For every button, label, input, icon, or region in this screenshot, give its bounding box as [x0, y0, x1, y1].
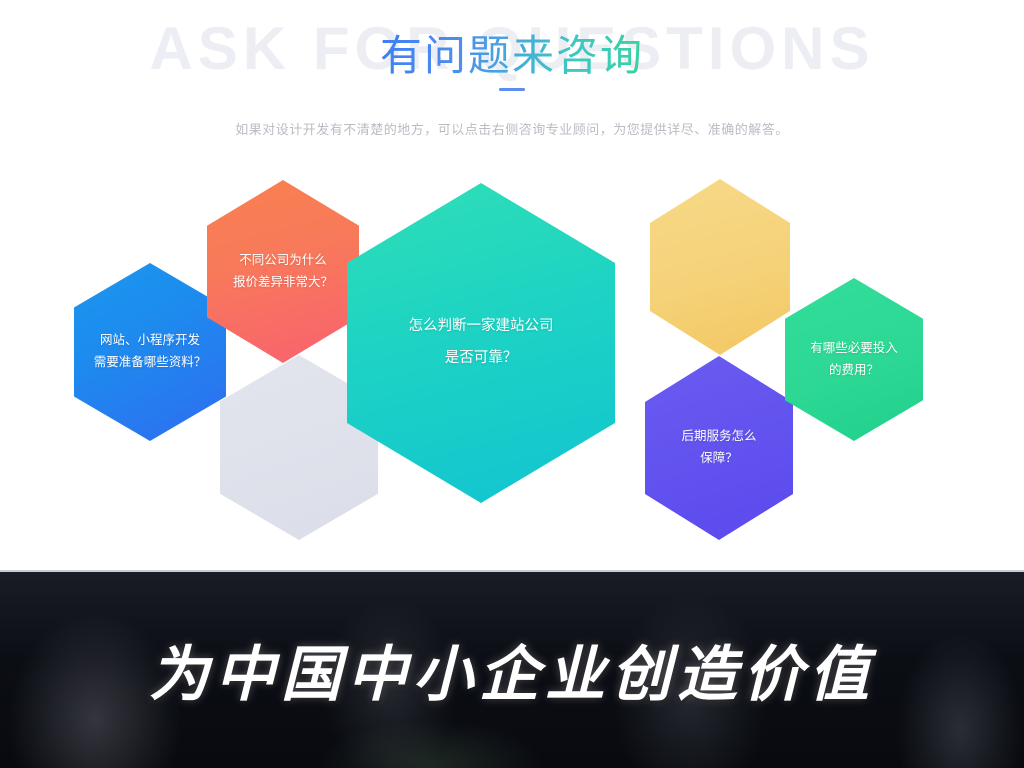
faq-hexagon-label: 不同公司为什么 报价差异非常大？ [225, 250, 341, 294]
hexagon-grid: 网站、小程序开发 需要准备哪些资料？ 不同公司为什么 报价差异非常大？ 怎么判断… [0, 160, 1024, 550]
faq-hexagon-reliable-company[interactable]: 怎么判断一家建站公司 是否可靠？ [347, 183, 615, 503]
faq-section: ASK FOR QUESTIONS 有问题来咨询 如果对设计开发有不清楚的地方，… [0, 0, 1024, 570]
faq-hexagon-label: 有哪些必要投入 的费用？ [802, 338, 906, 382]
faq-hexagon-label: 网站、小程序开发 需要准备哪些资料？ [86, 330, 215, 374]
banner-slogan: 为中国中小企业创造价值 [0, 570, 1024, 768]
faq-hexagon-after-sales[interactable]: 后期服务怎么 保障？ [645, 356, 793, 540]
page-title-wrap: 有问题来咨询 [0, 22, 1024, 83]
faq-hexagon-label: 后期服务怎么 保障？ [673, 426, 764, 470]
page-title: 有问题来咨询 [380, 22, 644, 83]
section-subtitle: 如果对设计开发有不清楚的地方，可以点击右侧咨询专业顾问，为您提供详尽、准确的解答… [0, 119, 1024, 138]
faq-hexagon-label: 怎么判断一家建站公司 是否可靠？ [401, 311, 562, 375]
decorative-hexagon-yellow [650, 179, 790, 355]
faq-hexagon-necessary-costs[interactable]: 有哪些必要投入 的费用？ [785, 278, 923, 441]
faq-hexagon-website-materials[interactable]: 网站、小程序开发 需要准备哪些资料？ [74, 263, 226, 441]
slogan-banner: 为中国中小企业创造价值 [0, 570, 1024, 768]
faq-hexagon-price-difference[interactable]: 不同公司为什么 报价差异非常大？ [207, 180, 359, 363]
title-underline-divider [499, 88, 525, 91]
page-root: ASK FOR QUESTIONS 有问题来咨询 如果对设计开发有不清楚的地方，… [0, 0, 1024, 768]
